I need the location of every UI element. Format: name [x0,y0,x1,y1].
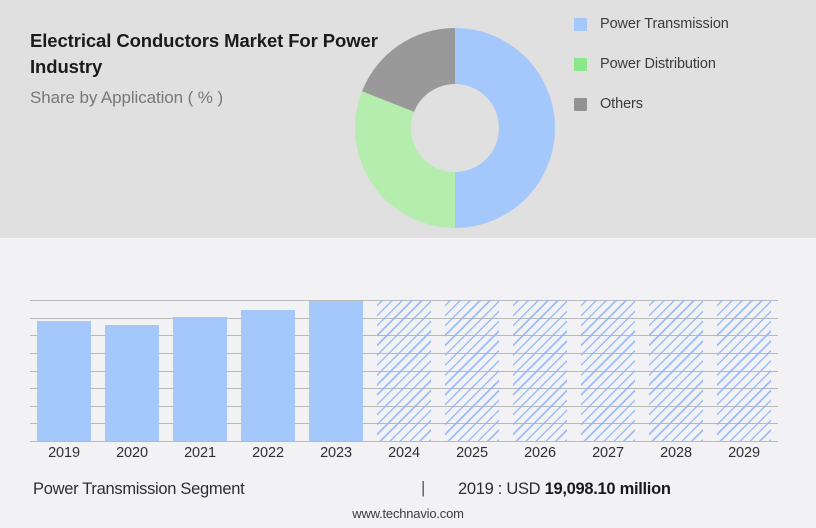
x-axis-label-2019: 2019 [30,445,98,461]
footer-value-amount: 19,098.10 million [545,480,671,498]
bar-2026[interactable] [513,300,567,441]
gridline [30,441,778,442]
bar-2023[interactable] [309,301,363,441]
legend-label-others: Others [600,96,643,112]
legend-swatch-power-transmission [574,18,587,31]
legend-swatch-power-distribution [574,58,587,71]
legend-swatch-others [574,98,587,111]
x-axis-label-2022: 2022 [234,445,302,461]
x-axis-label-2026: 2026 [506,445,574,461]
bar-2024[interactable] [377,300,431,441]
header-panel: Electrical Conductors Market For Power I… [0,0,816,238]
donut-hole [411,84,499,172]
chart-infographic: Electrical Conductors Market For Power I… [0,0,816,528]
bar-chart-bars [30,300,778,441]
bar-chart-x-axis: 2019202020212022202320242025202620272028… [30,445,778,467]
x-axis-label-2020: 2020 [98,445,166,461]
footer-panel: Power Transmission Segment | 2019 : USD … [0,470,816,528]
legend-label-power-transmission: Power Transmission [600,16,729,32]
x-axis-label-2027: 2027 [574,445,642,461]
title-block: Electrical Conductors Market For Power I… [30,28,380,109]
legend-item-power-distribution[interactable]: Power Distribution [574,57,804,71]
donut-chart-svg [355,28,555,228]
legend-item-others[interactable]: Others [574,97,804,111]
x-axis-label-2029: 2029 [710,445,778,461]
donut-chart [355,28,555,228]
page-title: Electrical Conductors Market For Power I… [30,28,380,80]
footer-value: 2019 : USD 19,098.10 million [458,480,671,499]
bar-2029[interactable] [717,300,771,441]
bar-2022[interactable] [241,310,295,441]
bar-2027[interactable] [581,300,635,441]
legend-label-power-distribution: Power Distribution [600,56,716,72]
x-axis-label-2024: 2024 [370,445,438,461]
x-axis-label-2023: 2023 [302,445,370,461]
x-axis-label-2021: 2021 [166,445,234,461]
footer-value-prefix: 2019 : USD [458,480,540,498]
bar-2025[interactable] [445,300,499,441]
footer-url: www.technavio.com [0,506,816,521]
bar-2020[interactable] [105,325,159,441]
x-axis-label-2025: 2025 [438,445,506,461]
bar-chart-panel: 2019202020212022202320242025202620272028… [0,238,816,470]
bar-2021[interactable] [173,317,227,441]
bar-2028[interactable] [649,300,703,441]
footer-segment-label: Power Transmission Segment [33,480,244,499]
legend-item-power-transmission[interactable]: Power Transmission [574,17,804,31]
x-axis-label-2028: 2028 [642,445,710,461]
page-subtitle: Share by Application ( % ) [30,87,380,109]
legend: Power Transmission Power Distribution Ot… [574,17,804,137]
footer-divider: | [421,478,425,498]
bar-2019[interactable] [37,321,91,441]
